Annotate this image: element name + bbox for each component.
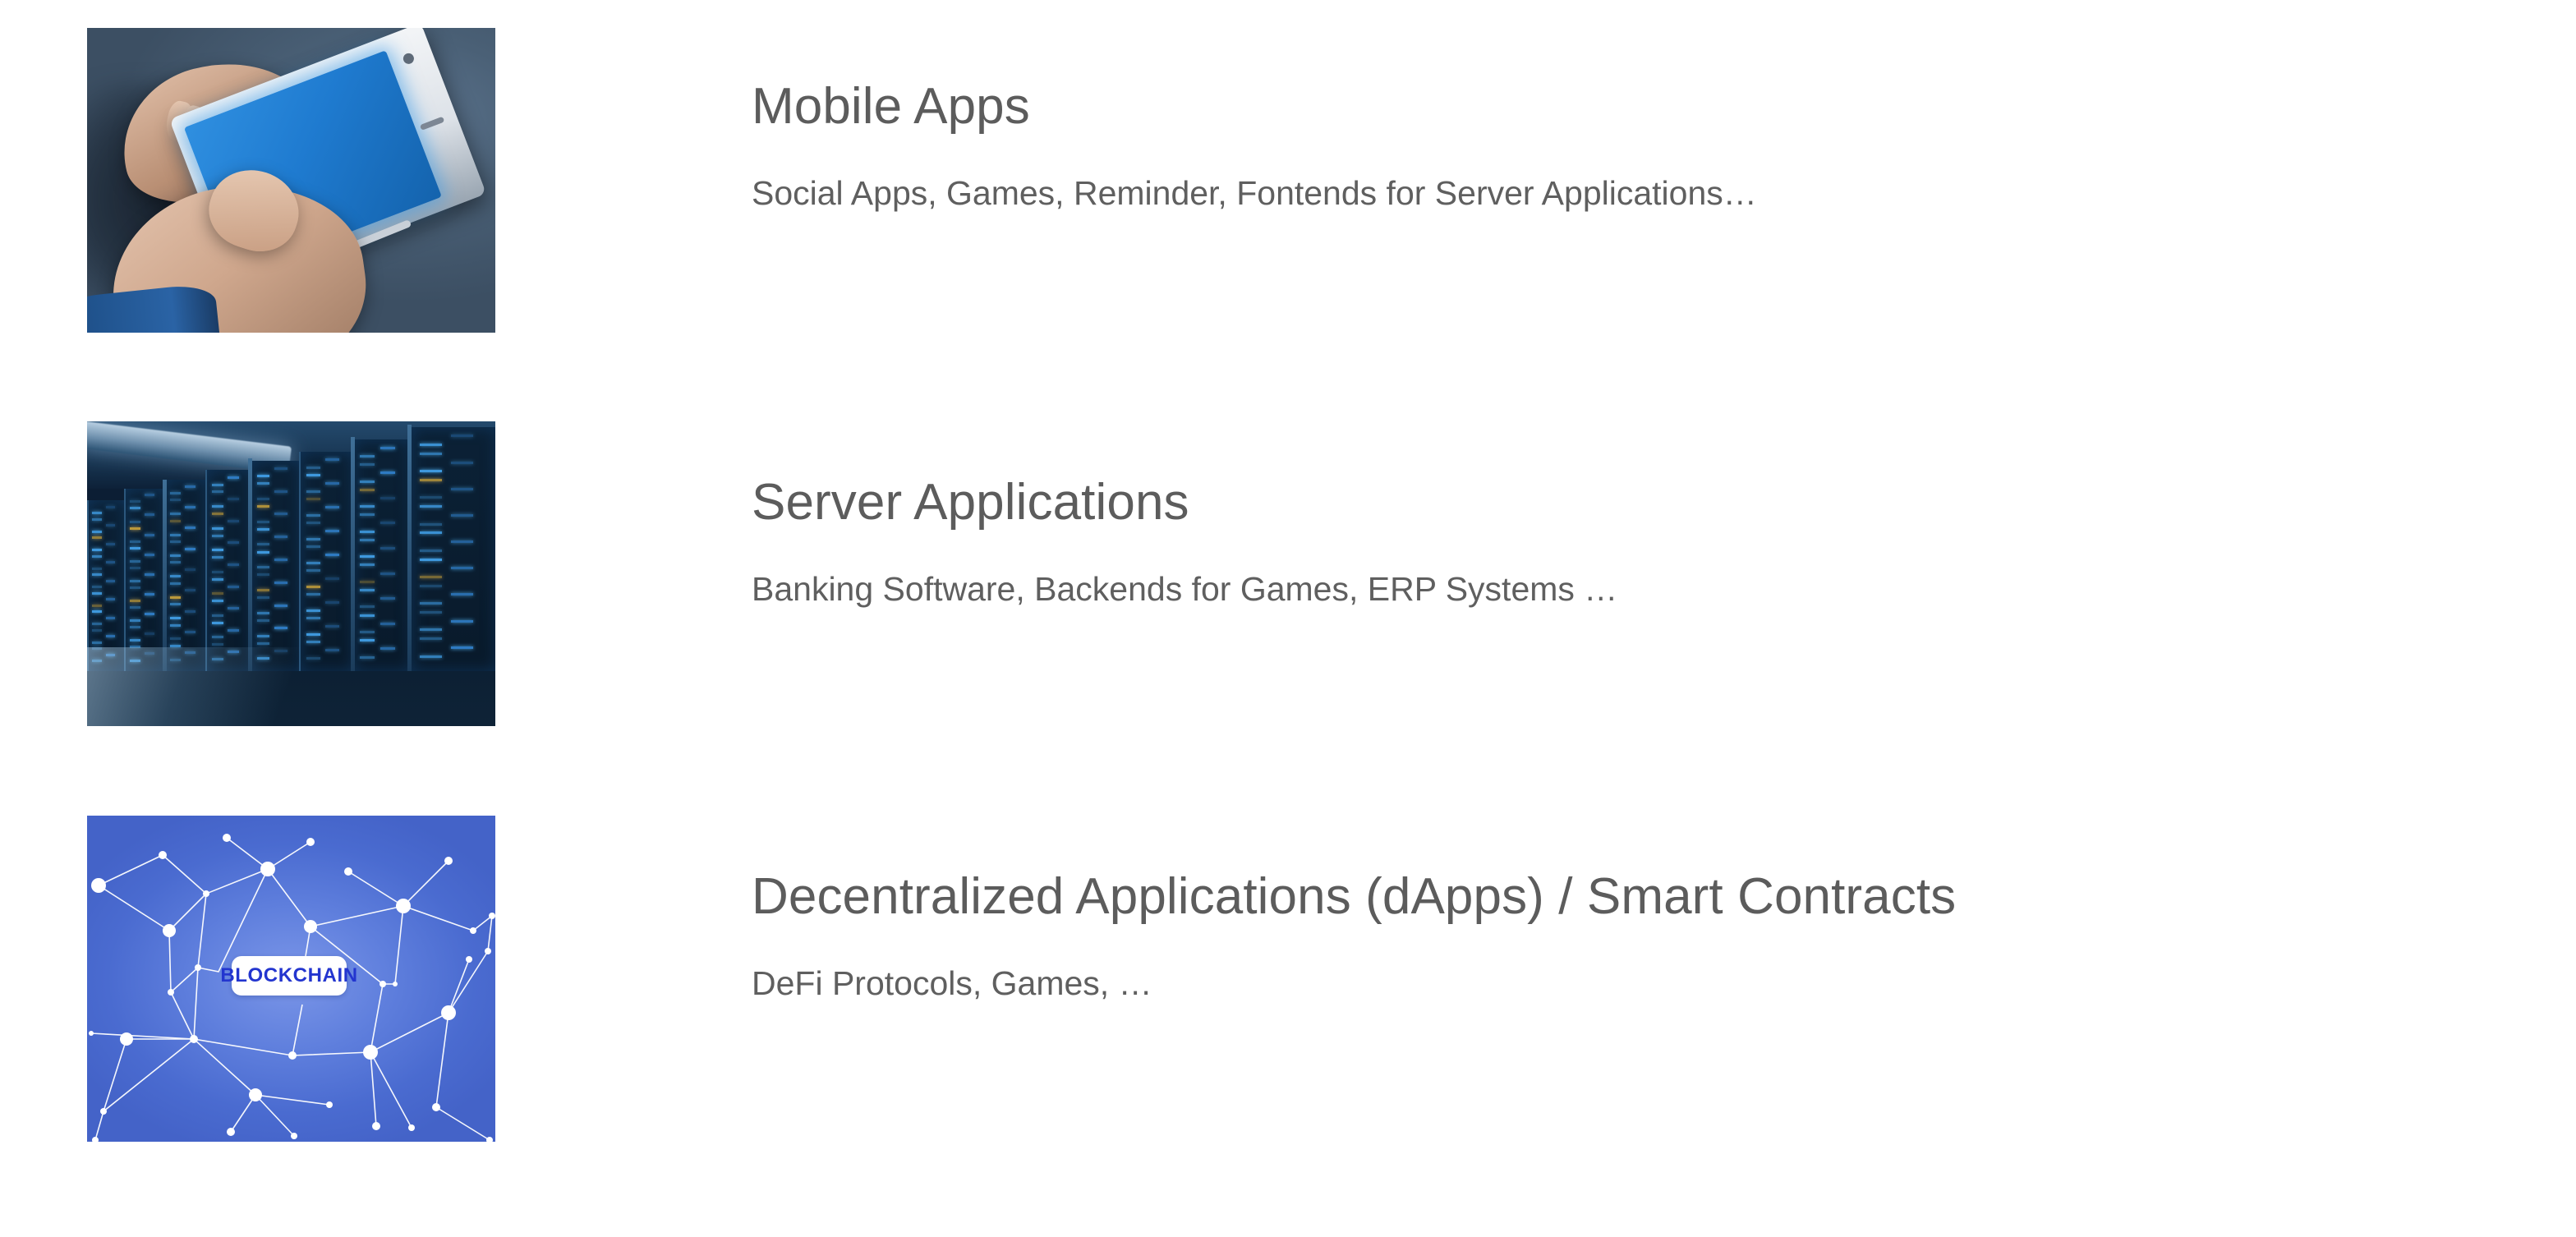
rack-led [306, 633, 320, 636]
rack-led [170, 637, 181, 640]
rack-led [325, 577, 339, 580]
rack-led [145, 573, 155, 576]
rack-led [325, 506, 339, 508]
rack-led [185, 610, 195, 613]
rack-led [257, 566, 270, 568]
rack-led [306, 545, 320, 548]
rack-led [212, 505, 223, 508]
rack-led [106, 524, 116, 527]
rack-led [360, 563, 375, 566]
rack-led [145, 593, 155, 596]
floor-reflection [87, 647, 352, 726]
rack-led [306, 562, 320, 564]
rack-led [130, 600, 140, 602]
rack-led [380, 471, 395, 474]
rack-led [145, 534, 155, 536]
rack-led [451, 540, 473, 543]
rack-led [212, 535, 223, 537]
rack-led [170, 596, 181, 599]
rack-led [451, 567, 473, 569]
rack-led [380, 597, 395, 600]
rack-led [130, 547, 140, 550]
rack-led [92, 549, 102, 551]
rack-led [170, 624, 181, 627]
rack-led [380, 447, 395, 449]
rack-led [274, 513, 287, 515]
rack-led [274, 559, 287, 561]
rack-led [360, 581, 375, 583]
rack-led [130, 567, 140, 569]
rack-led [228, 586, 239, 588]
rack-led [170, 540, 181, 543]
rack-led [420, 611, 442, 614]
rack-led [185, 631, 195, 633]
rack-led [212, 490, 223, 493]
rack-led [360, 455, 375, 458]
rack-led [257, 543, 270, 545]
blockchain-badge-label: BLOCKCHAIN [220, 964, 357, 987]
rack-led [380, 623, 395, 625]
rack-led [212, 592, 223, 595]
rack-led [380, 547, 395, 550]
rack-led [451, 435, 473, 437]
rack-led [325, 554, 339, 556]
rack-led [130, 521, 140, 523]
rack-led [92, 605, 102, 607]
rack-led [106, 635, 116, 637]
rack-led [170, 534, 181, 536]
rack-led [360, 631, 375, 633]
rack-led [420, 444, 442, 446]
rack-led [106, 561, 116, 563]
rack-led [257, 589, 270, 591]
rack-led [380, 573, 395, 575]
rack-led [257, 619, 270, 622]
category-row[interactable]: Server Applications Banking Software, Ba… [0, 421, 2576, 816]
rack-led [212, 636, 223, 638]
rack-led [257, 505, 270, 508]
rack-led [360, 513, 375, 516]
rack-led [360, 589, 375, 591]
server-rack [205, 470, 253, 671]
rack-led [420, 453, 442, 455]
rack-led [92, 573, 102, 576]
rack-led [360, 505, 375, 508]
rack-led [212, 513, 223, 515]
category-title: Server Applications [752, 473, 2518, 532]
rack-led [212, 484, 223, 486]
rack-led [130, 500, 140, 503]
rack-led [306, 593, 320, 596]
phone-speaker [420, 116, 445, 130]
rack-led [170, 499, 181, 501]
rack-led [257, 642, 270, 645]
rack-led [257, 551, 270, 554]
rack-led [185, 548, 195, 550]
rack-led [130, 527, 140, 530]
rack-led [420, 576, 442, 578]
rack-led [170, 520, 181, 522]
data-center-photo[interactable] [87, 421, 495, 726]
rack-led [451, 488, 473, 490]
rack-led [106, 506, 116, 508]
rack-led [106, 543, 116, 545]
rack-led [228, 629, 239, 632]
rack-led [420, 505, 442, 508]
rack-led [228, 476, 239, 479]
rack-led [420, 523, 442, 526]
category-subtitle: Social Apps, Games, Reminder, Fontends f… [752, 136, 2518, 214]
rack-led [420, 637, 442, 640]
rack-led [306, 474, 320, 476]
rack-led [130, 619, 140, 622]
rack-led [306, 467, 320, 469]
rack-led [145, 613, 155, 615]
category-title: Decentralized Applications (dApps) / Sma… [752, 867, 2518, 927]
server-rack [352, 439, 412, 671]
phone-camera [402, 51, 416, 65]
rack-led [170, 561, 181, 563]
rack-led [451, 514, 473, 517]
category-list: Mobile Apps Social Apps, Games, Reminder… [0, 0, 2576, 1237]
rack-led [257, 475, 270, 477]
rack-led [228, 563, 239, 566]
rack-led [306, 514, 320, 517]
rack-led [274, 467, 287, 470]
rack-led [228, 541, 239, 544]
rack-led [274, 627, 287, 629]
rack-led [274, 605, 287, 607]
blockchain-network-illustration[interactable]: BLOCKCHAIN [87, 816, 495, 1142]
blockchain-badge: BLOCKCHAIN [232, 956, 347, 996]
rack-led [92, 568, 102, 570]
rack-led [130, 606, 140, 609]
category-subtitle: Banking Software, Backends for Games, ER… [752, 532, 2518, 609]
rack-led [325, 601, 339, 604]
rack-led [130, 586, 140, 589]
server-rack [251, 461, 302, 671]
server-rack [299, 452, 355, 671]
rack-led [212, 600, 223, 602]
rack-led [92, 592, 102, 595]
rack-led [92, 531, 102, 533]
category-text-column: Mobile Apps Social Apps, Games, Reminder… [752, 77, 2518, 214]
rack-led [106, 580, 116, 582]
rack-led [420, 559, 442, 561]
rack-led [360, 531, 375, 533]
rack-led [185, 589, 195, 591]
rack-led [212, 643, 223, 646]
rack-led [145, 494, 155, 496]
rack-led [420, 496, 442, 499]
rack-led [274, 582, 287, 584]
rack-led [92, 512, 102, 514]
rack-led [92, 518, 102, 521]
category-subtitle: DeFi Protocols, Games, … [752, 927, 2518, 1004]
rack-led [106, 617, 116, 619]
rack-led [420, 531, 442, 534]
rack-led [420, 602, 442, 605]
rack-led [257, 528, 270, 531]
rack-led [274, 490, 287, 493]
rack-led [360, 539, 375, 541]
server-rack [87, 500, 126, 671]
server-rack [124, 489, 168, 672]
rack-led [170, 582, 181, 585]
rack-led [212, 549, 223, 551]
rack-led [170, 603, 181, 605]
rack-led [170, 617, 181, 619]
rack-led [306, 569, 320, 572]
rack-led [325, 625, 339, 628]
rack-led [130, 507, 140, 509]
rack-led [451, 462, 473, 464]
server-rack [410, 427, 495, 671]
rack-led [185, 506, 195, 508]
rack-led [274, 536, 287, 538]
rack-led [451, 620, 473, 623]
server-rack [164, 480, 208, 672]
category-text-column: Server Applications Banking Software, Ba… [752, 473, 2518, 609]
rack-led [306, 498, 320, 500]
rack-led [325, 482, 339, 485]
rack-led [360, 555, 375, 558]
rack-pillar [163, 480, 167, 672]
rack-led [185, 527, 195, 529]
rack-led [420, 470, 442, 472]
rack-led [257, 521, 270, 523]
rack-led [92, 586, 102, 588]
rack-led [380, 497, 395, 499]
rack-led [92, 536, 102, 539]
rack-led [212, 556, 223, 559]
rack-led [228, 498, 239, 500]
rack-led [212, 614, 223, 617]
rack-led [228, 520, 239, 522]
rack-led [228, 607, 239, 609]
rack-led [306, 617, 320, 619]
rack-led [306, 586, 320, 588]
rack-pillar [248, 458, 252, 672]
rack-led [325, 458, 339, 461]
rack-led [185, 485, 195, 488]
rack-led [360, 614, 375, 617]
rack-led [130, 639, 140, 641]
rack-led [420, 628, 442, 631]
rack-led [145, 513, 155, 516]
rack-led [92, 610, 102, 613]
rack-led [257, 596, 270, 599]
rack-led [360, 639, 375, 641]
rack-led [130, 580, 140, 582]
category-text-column: Decentralized Applications (dApps) / Sma… [752, 867, 2518, 1004]
rack-led [170, 575, 181, 577]
rack-led [420, 550, 442, 552]
rack-led [380, 522, 395, 524]
rack-led [325, 530, 339, 532]
rack-led [92, 623, 102, 625]
rack-pillar [351, 437, 355, 672]
phone-in-hands-photo[interactable] [87, 28, 495, 333]
rack-led [257, 612, 270, 614]
rack-led [92, 555, 102, 558]
rack-led [185, 568, 195, 571]
rack-led [170, 492, 181, 494]
rack-led [360, 489, 375, 491]
rack-led [212, 622, 223, 624]
rack-led [130, 560, 140, 563]
rack-led [306, 609, 320, 612]
rack-led [130, 540, 140, 543]
rack-led [106, 598, 116, 600]
rack-led [257, 573, 270, 576]
rack-led [306, 490, 320, 493]
category-row[interactable]: BLOCKCHAIN Decentralized Applications (d… [0, 816, 2576, 1210]
rack-pillar [407, 425, 412, 672]
rack-led [212, 571, 223, 573]
rack-led [306, 641, 320, 643]
rack-led [420, 479, 442, 481]
rack-led [145, 632, 155, 635]
category-row[interactable]: Mobile Apps Social Apps, Games, Reminder… [0, 28, 2576, 422]
rack-led [145, 554, 155, 556]
rack-led [170, 513, 181, 515]
rack-led [130, 626, 140, 628]
category-title: Mobile Apps [752, 77, 2518, 136]
rack-led [360, 463, 375, 466]
rack-led [306, 522, 320, 524]
rack-led [257, 498, 270, 500]
rack-led [360, 605, 375, 608]
rack-led [170, 554, 181, 557]
rack-led [360, 481, 375, 483]
rack-led [92, 641, 102, 644]
rack-led [420, 585, 442, 587]
rack-led [257, 482, 270, 485]
rack-led [212, 527, 223, 530]
rack-led [306, 538, 320, 540]
rack-led [212, 578, 223, 581]
rack-led [257, 635, 270, 637]
rack-led [451, 593, 473, 596]
rack-led [92, 629, 102, 632]
